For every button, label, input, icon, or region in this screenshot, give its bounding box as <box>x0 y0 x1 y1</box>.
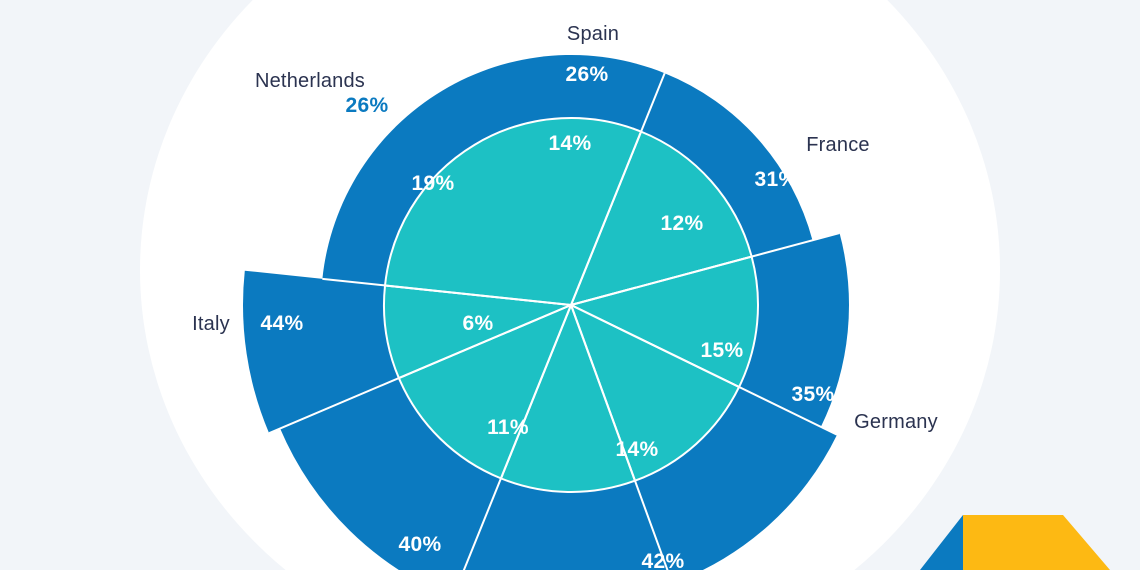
inner-value-label-1: 12% <box>661 212 704 235</box>
outer-value-label-0: 26% <box>566 63 609 86</box>
country-label-france: France <box>806 134 869 156</box>
inner-value-label-0: 14% <box>549 132 592 155</box>
inner-value-label-3: 14% <box>616 438 659 461</box>
nested-pie-chart: Spain26%14%France31%12%Germany35%15%42%1… <box>0 0 1140 570</box>
inner-value-label-2: 15% <box>701 339 744 362</box>
inner-value-label-5: 6% <box>463 312 494 335</box>
outer-value-label-5: 44% <box>261 312 304 335</box>
inner-value-label-6: 19% <box>412 172 455 195</box>
chart-canvas: Spain26%14%France31%12%Germany35%15%42%1… <box>0 0 1140 570</box>
country-label-netherlands: Netherlands <box>255 70 365 92</box>
outer-value-label-2: 35% <box>792 383 835 406</box>
outer-value-label-1: 31% <box>755 168 798 191</box>
outer-value-label-3: 42% <box>642 550 685 570</box>
country-label-italy: Italy <box>192 313 230 335</box>
outer-value-label-6: 26% <box>346 94 389 117</box>
country-label-spain: Spain <box>567 23 619 45</box>
outer-value-label-4: 40% <box>399 533 442 556</box>
inner-value-label-4: 11% <box>487 416 529 439</box>
country-label-germany: Germany <box>854 411 938 433</box>
